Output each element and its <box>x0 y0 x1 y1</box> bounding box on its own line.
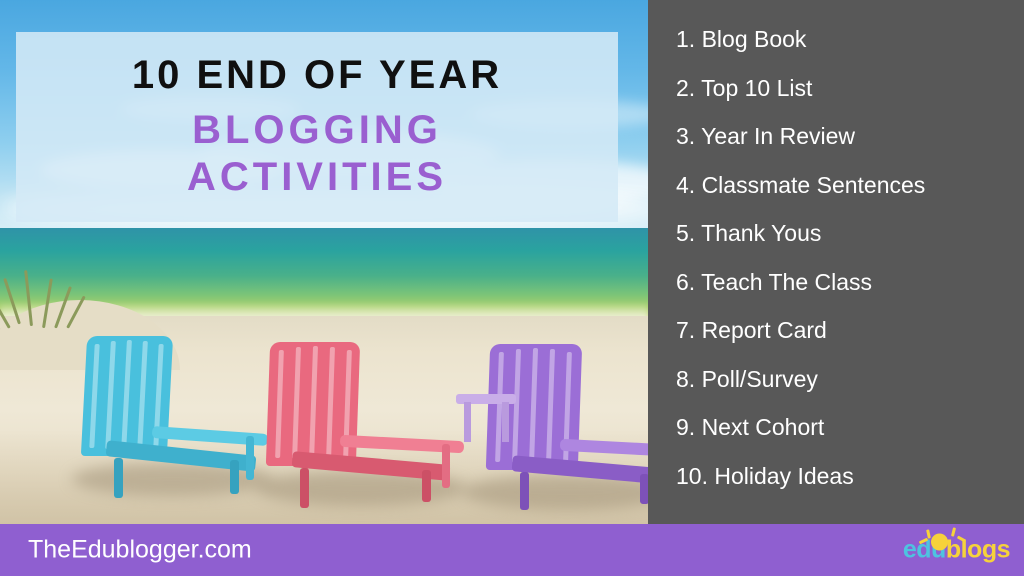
footer-bar: TheEdublogger.com edublogs <box>0 524 1024 576</box>
list-item: 9. Next Cohort <box>676 416 1024 439</box>
site-url: TheEdublogger.com <box>28 536 252 565</box>
logo-blogs: blogs <box>946 536 1010 564</box>
chair-teal <box>78 336 278 486</box>
title-box: 10 END OF YEAR BLOGGING ACTIVITIES <box>16 32 618 222</box>
list-item: 4. Classmate Sentences <box>676 174 1024 197</box>
chair-pink <box>262 342 472 494</box>
list-item: 5. Thank Yous <box>676 222 1024 245</box>
title-line-3: ACTIVITIES <box>187 154 447 201</box>
list-item: 8. Poll/Survey <box>676 368 1024 391</box>
list-item: 2. Top 10 List <box>676 77 1024 100</box>
list-item: 6. Teach The Class <box>676 271 1024 294</box>
beach-photo: 10 END OF YEAR BLOGGING ACTIVITIES <box>0 0 648 524</box>
edublogs-logo: edublogs <box>903 536 1010 565</box>
poster-canvas: 10 END OF YEAR BLOGGING ACTIVITIES 1. Bl… <box>0 0 1024 576</box>
list-item: 3. Year In Review <box>676 125 1024 148</box>
list-item: 1. Blog Book <box>676 28 1024 51</box>
logo-wordmark: edublogs <box>903 536 1010 565</box>
list-item: 10. Holiday Ideas <box>676 465 1024 488</box>
sun-ray <box>926 529 931 538</box>
chair-purple <box>468 344 648 496</box>
title-line-1: 10 END OF YEAR <box>132 53 502 97</box>
list-item: 7. Report Card <box>676 319 1024 342</box>
sun-icon <box>931 534 948 551</box>
title-line-2: BLOGGING <box>192 107 442 154</box>
activities-list-panel: 1. Blog Book 2. Top 10 List 3. Year In R… <box>648 0 1024 524</box>
